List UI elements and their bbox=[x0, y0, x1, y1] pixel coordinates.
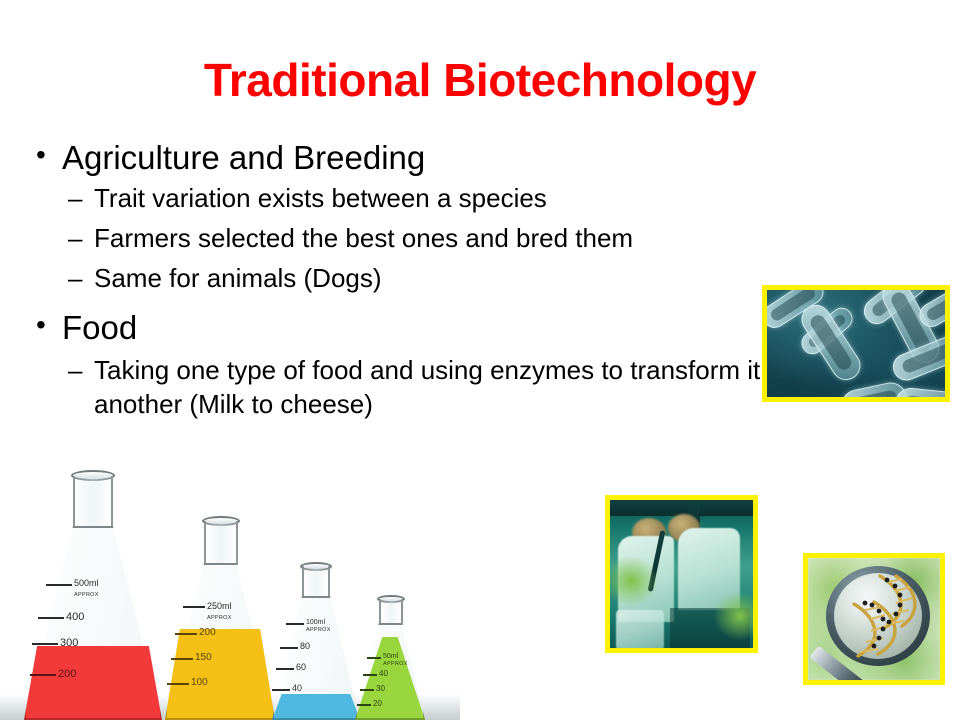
flask-capacity-label: 500ml APPROX bbox=[74, 578, 99, 598]
lab-green-glow bbox=[714, 592, 758, 640]
graduation-label: 40 bbox=[379, 669, 388, 678]
graduation-tick bbox=[175, 633, 197, 635]
graduation-tick bbox=[167, 683, 189, 685]
graduation-label: 200 bbox=[199, 627, 216, 638]
flask-neck bbox=[204, 521, 238, 565]
sub-bullet-marker: – bbox=[68, 262, 92, 296]
graduation-label: 80 bbox=[300, 641, 310, 651]
bullet-item-agriculture: •Agriculture and Breeding bbox=[24, 138, 854, 178]
flask-500ml: 500ml APPROX 400 300 200 bbox=[24, 470, 164, 720]
slide-body: •Agriculture and Breeding – Trait variat… bbox=[24, 138, 854, 421]
sub-bullet-item-enzymes: – Taking one type of food and using enzy… bbox=[24, 354, 854, 422]
graduation-tick bbox=[183, 606, 205, 608]
graduation-tick bbox=[46, 584, 72, 586]
graduation-label: 40 bbox=[292, 683, 302, 693]
bullet-text: Agriculture and Breeding bbox=[62, 139, 425, 176]
graduation-tick bbox=[360, 689, 374, 691]
lab-bench-items bbox=[616, 610, 664, 650]
flask-liquid-red bbox=[24, 646, 162, 720]
approx-label: APPROX bbox=[306, 627, 331, 633]
page-title: Traditional Biotechnology bbox=[0, 56, 960, 104]
graduation-tick bbox=[280, 647, 298, 649]
graduation-tick bbox=[32, 643, 58, 645]
graduation-tick bbox=[30, 674, 56, 676]
graduation-label: 30 bbox=[376, 684, 385, 693]
graduation-tick bbox=[272, 689, 290, 691]
sub-bullet-marker: – bbox=[68, 182, 92, 216]
graduation-label: 60 bbox=[296, 662, 306, 672]
flask-neck bbox=[73, 476, 113, 528]
laboratory-scene-image bbox=[605, 495, 758, 653]
flask-250ml: 250ml APPROX 200 150 100 bbox=[165, 516, 277, 720]
approx-label: APPROX bbox=[74, 592, 99, 598]
graduation-label: 200 bbox=[58, 668, 76, 680]
graduation-tick bbox=[286, 623, 304, 625]
flask-neck bbox=[302, 566, 330, 598]
sub-bullet-item-trait-variation: – Trait variation exists between a speci… bbox=[24, 182, 854, 216]
bullet-item-food: •Food bbox=[24, 308, 854, 348]
graduation-label: 20 bbox=[373, 699, 382, 708]
erlenmeyer-flask-group: 500ml APPROX 400 300 200 250ml APPROX 20… bbox=[0, 440, 460, 720]
graduation-label: 400 bbox=[66, 611, 84, 623]
bullet-text: Food bbox=[62, 309, 137, 346]
sub-bullet-item-same-for-animals: – Same for animals (Dogs) bbox=[24, 262, 854, 296]
approx-label: APPROX bbox=[383, 661, 408, 667]
lab-green-glow bbox=[605, 556, 658, 606]
flask-liquid-blue bbox=[272, 694, 360, 720]
graduation-tick bbox=[276, 668, 294, 670]
graduation-label: 150 bbox=[195, 652, 212, 663]
graduation-tick bbox=[363, 674, 377, 676]
graduation-tick bbox=[357, 704, 371, 706]
flask-100ml: 100ml APPROX 80 60 40 bbox=[272, 562, 362, 720]
flask-capacity-label: 50ml APPROX bbox=[383, 653, 408, 667]
bullet-marker: • bbox=[36, 308, 62, 342]
flask-neck bbox=[379, 599, 403, 625]
approx-label: APPROX bbox=[207, 615, 232, 621]
bullet-marker: • bbox=[36, 138, 62, 172]
graduation-label: 300 bbox=[60, 637, 78, 649]
presentation-slide: Traditional Biotechnology •Agriculture a… bbox=[0, 0, 960, 720]
graduation-tick bbox=[367, 657, 381, 659]
graduation-tick bbox=[38, 617, 64, 619]
sub-bullet-text: Trait variation exists between a species bbox=[68, 182, 854, 216]
flask-capacity-label: 100ml APPROX bbox=[306, 619, 331, 633]
sub-bullet-text: Taking one type of food and using enzyme… bbox=[68, 354, 834, 422]
flask-50ml: 50ml APPROX 40 30 20 bbox=[355, 595, 427, 720]
sub-bullet-text: Same for animals (Dogs) bbox=[68, 262, 854, 296]
flask-liquid-yellow bbox=[165, 629, 275, 720]
sub-bullet-marker: – bbox=[68, 354, 92, 388]
sub-bullet-text: Farmers selected the best ones and bred … bbox=[68, 222, 854, 256]
dna-helix-icon bbox=[838, 570, 922, 662]
graduation-label: 100 bbox=[191, 677, 208, 688]
graduation-tick bbox=[171, 658, 193, 660]
sub-bullet-marker: – bbox=[68, 222, 92, 256]
dna-magnifier-image bbox=[803, 553, 945, 685]
flask-capacity-label: 250ml APPROX bbox=[207, 601, 232, 621]
bacteria-microscopy-image bbox=[762, 285, 950, 402]
sub-bullet-item-farmers-selected: – Farmers selected the best ones and bre… bbox=[24, 222, 854, 256]
